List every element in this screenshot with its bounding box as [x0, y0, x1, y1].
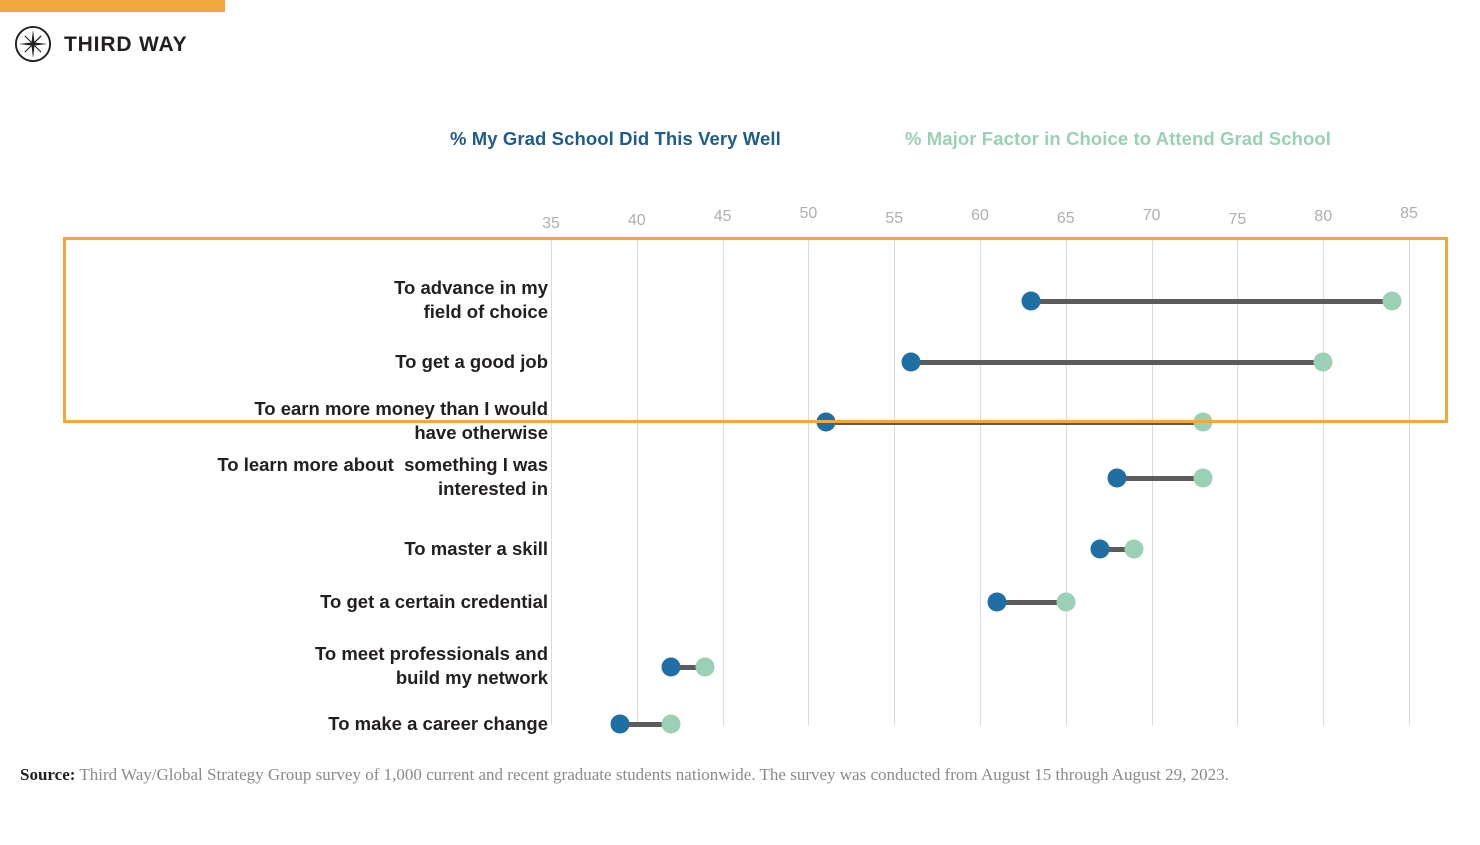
row-label: To learn more about something I was inte… — [68, 453, 548, 500]
source-note: Source: Third Way/Global Strategy Group … — [20, 764, 1440, 787]
dumbbell-connector — [826, 420, 1204, 425]
data-point-did-this-very-well — [1091, 540, 1110, 559]
x-tick-50: 50 — [799, 205, 817, 223]
data-point-did-this-very-well — [988, 593, 1007, 612]
data-point-did-this-very-well — [1022, 292, 1041, 311]
chart-legend: % My Grad School Did This Very Well % Ma… — [450, 128, 1450, 158]
row-label: To meet professionals and build my netwo… — [68, 642, 548, 689]
row-label: To get a good job — [68, 350, 548, 374]
brand-logo: THIRD WAY — [14, 25, 187, 63]
compass-star-icon — [14, 25, 52, 63]
dumbbell-connector — [1031, 299, 1391, 304]
dumbbell-connector — [1117, 476, 1203, 481]
top-accent-bar — [0, 0, 225, 12]
data-point-major-factor — [1125, 540, 1144, 559]
brand-wordmark: THIRD WAY — [64, 34, 187, 55]
x-tick-80: 80 — [1314, 208, 1332, 226]
x-tick-75: 75 — [1228, 211, 1246, 229]
row-label: To get a certain credential — [68, 590, 548, 614]
x-tick-65: 65 — [1057, 210, 1075, 228]
row-label: To make a career change — [68, 712, 548, 736]
data-point-major-factor — [1382, 292, 1401, 311]
x-tick-85: 85 — [1400, 205, 1418, 223]
x-tick-70: 70 — [1143, 207, 1161, 225]
x-tick-45: 45 — [714, 208, 732, 226]
data-point-major-factor — [1194, 469, 1213, 488]
data-point-did-this-very-well — [902, 353, 921, 372]
data-point-did-this-very-well — [816, 413, 835, 432]
x-tick-55: 55 — [885, 210, 903, 228]
legend-item-major-factor: % Major Factor in Choice to Attend Grad … — [905, 128, 1331, 150]
chart-rows: To advance in my field of choiceTo get a… — [63, 237, 1423, 725]
x-axis-tick-labels: 3540455055606570758085 — [63, 205, 1423, 233]
row-label: To earn more money than I would have oth… — [68, 397, 548, 444]
row-label: To master a skill — [68, 537, 548, 561]
x-tick-40: 40 — [628, 212, 646, 230]
data-point-major-factor — [1194, 413, 1213, 432]
data-point-did-this-very-well — [1108, 469, 1127, 488]
data-point-did-this-very-well — [610, 715, 629, 734]
source-text: Third Way/Global Strategy Group survey o… — [75, 765, 1228, 784]
data-point-major-factor — [1314, 353, 1333, 372]
x-tick-60: 60 — [971, 207, 989, 225]
dumbbell-connector — [911, 360, 1323, 365]
data-point-major-factor — [696, 658, 715, 677]
data-point-major-factor — [1056, 593, 1075, 612]
x-tick-35: 35 — [542, 215, 560, 233]
source-label: Source: — [20, 765, 75, 784]
row-label: To advance in my field of choice — [68, 276, 548, 323]
dumbbell-chart: 3540455055606570758085 To advance in my … — [63, 205, 1423, 725]
legend-item-grad-school-did-well: % My Grad School Did This Very Well — [450, 128, 781, 150]
data-point-did-this-very-well — [662, 658, 681, 677]
data-point-major-factor — [662, 715, 681, 734]
